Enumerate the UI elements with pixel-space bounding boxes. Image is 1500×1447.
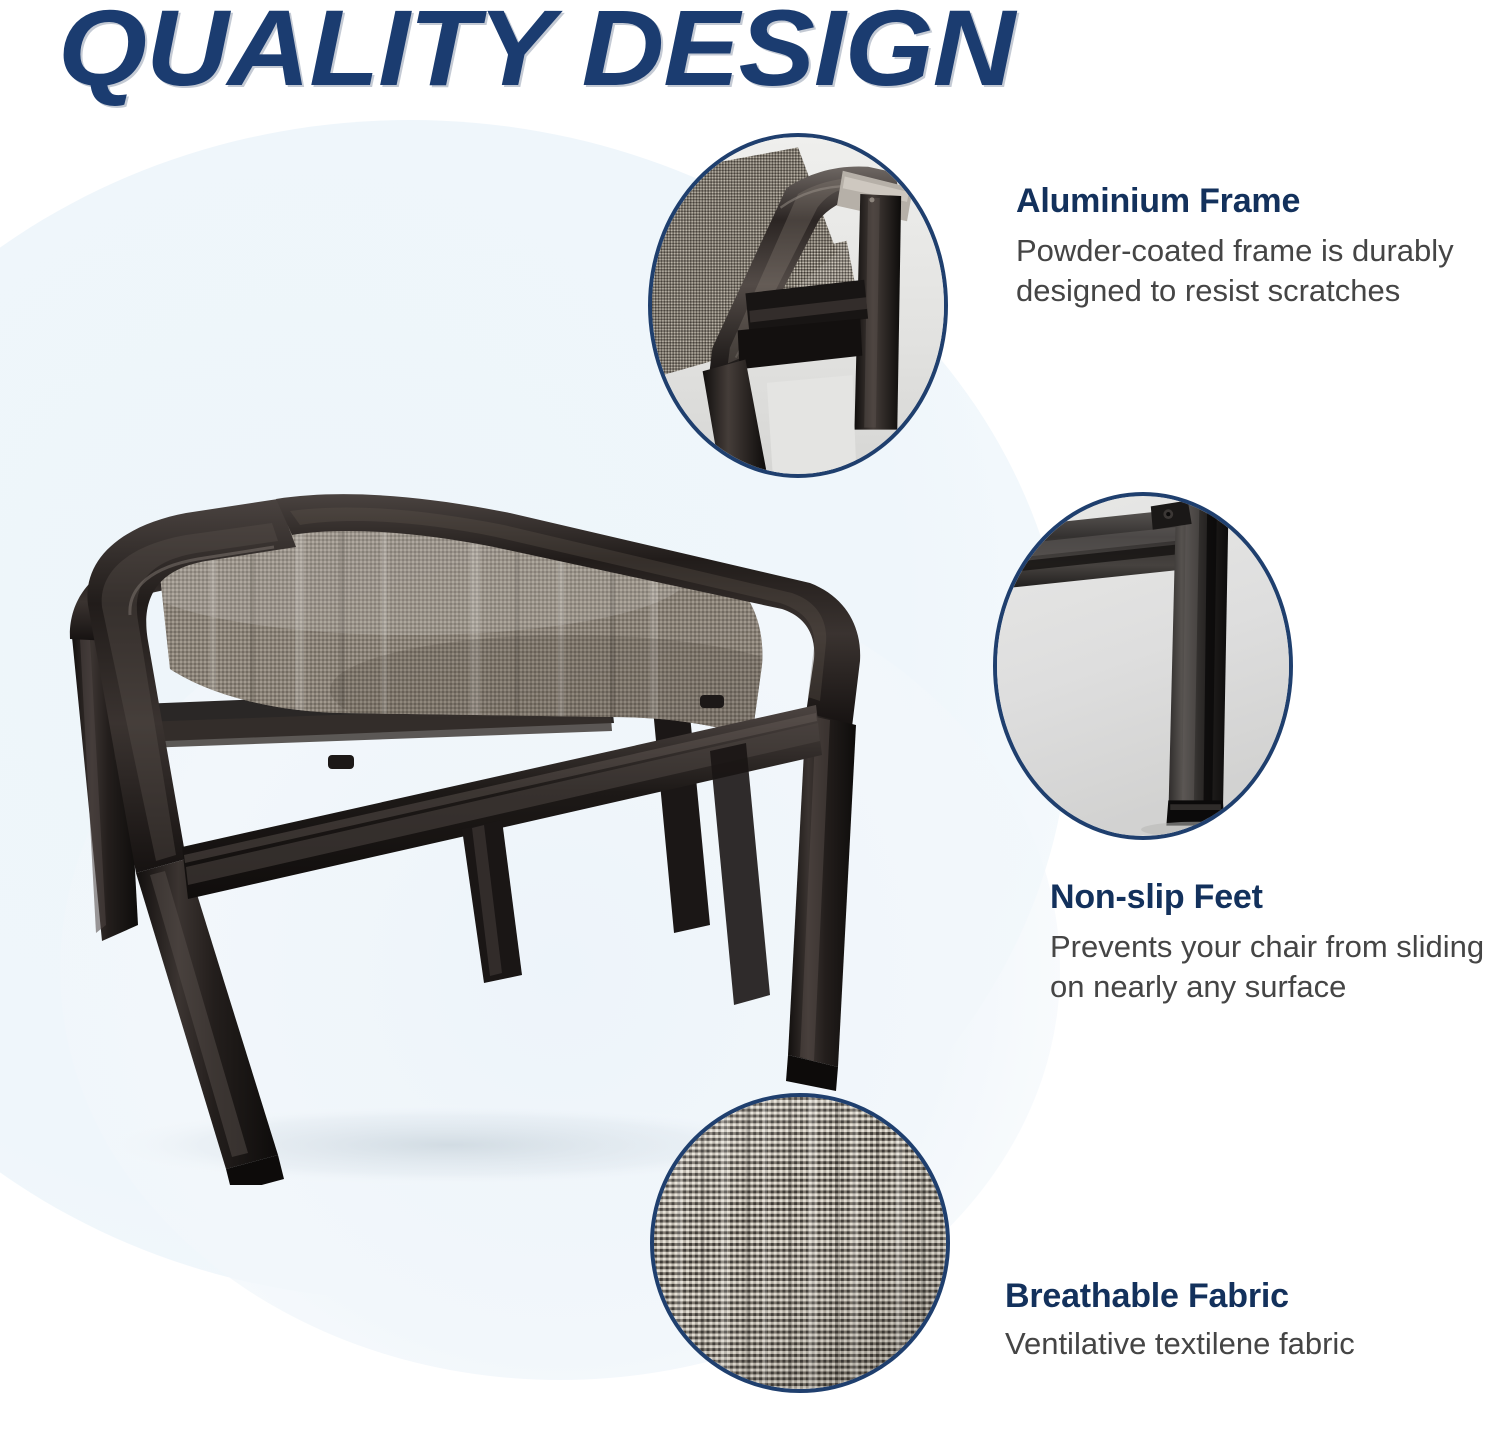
- foot-closeup-illustration: [997, 496, 1289, 836]
- feature-body-aluminium-frame: Powder-coated frame is durably designed …: [1016, 231, 1494, 312]
- feature-title-non-slip-feet: Non-slip Feet: [1050, 878, 1500, 917]
- feature-non-slip-feet: Non-slip Feet Prevents your chair from s…: [1050, 878, 1500, 1008]
- product-image: [10, 455, 890, 1185]
- feature-aluminium-frame: Aluminium Frame Powder-coated frame is d…: [1016, 182, 1494, 312]
- page-title: QUALITY DESIGN: [58, 0, 1014, 102]
- frame-closeup-photo: [648, 133, 948, 478]
- feature-body-non-slip-feet: Prevents your chair from sliding on near…: [1050, 927, 1500, 1008]
- frame-closeup-illustration: [652, 137, 944, 474]
- feature-body-breathable-fabric: Ventilative textilene fabric: [1005, 1324, 1500, 1364]
- feature-title-breathable-fabric: Breathable Fabric: [1005, 1277, 1500, 1316]
- fabric-closeup-illustration: [654, 1097, 946, 1389]
- foot-closeup-photo: [993, 492, 1293, 840]
- ottoman-illustration: [10, 455, 890, 1185]
- feature-breathable-fabric: Breathable Fabric Ventilative textilene …: [1005, 1277, 1500, 1364]
- fabric-closeup-photo: [650, 1093, 950, 1393]
- feature-title-aluminium-frame: Aluminium Frame: [1016, 182, 1494, 221]
